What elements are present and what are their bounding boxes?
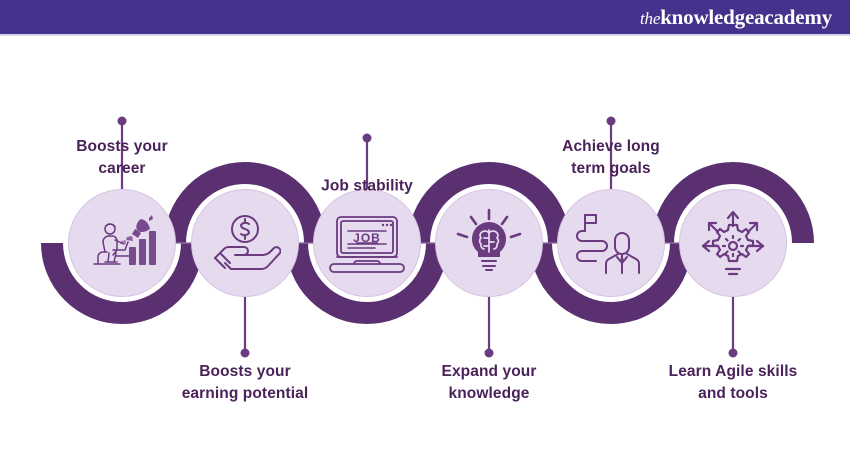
- connector-dot-6: [729, 349, 738, 358]
- gear-arrows-outward-icon: [697, 208, 769, 278]
- icon-bubble-5[interactable]: [557, 189, 665, 297]
- person-rocket-chart-icon: [85, 212, 159, 274]
- infographic-stage: Boosts your career: [0, 36, 850, 450]
- step-label-achieve-long-term-goals: Achieve long term goals: [501, 136, 721, 181]
- icon-bubble-2[interactable]: [191, 189, 299, 297]
- label-line-2: and tools: [623, 383, 843, 405]
- person-maze-flag-goal-icon: [576, 211, 646, 275]
- laptop-job-screen-icon: JOB: [328, 213, 406, 273]
- header-bar: theknowledgeacademy: [0, 0, 850, 34]
- connector-dot-2: [241, 349, 250, 358]
- icon-bubble-6[interactable]: [679, 189, 787, 297]
- label-line-1: Expand your: [379, 361, 599, 383]
- label-line-1: Boosts your: [12, 136, 232, 158]
- label-line-1: Learn Agile skills: [623, 361, 843, 383]
- connector-dot-3: [363, 134, 372, 143]
- connector-dot-1: [118, 117, 127, 126]
- step-label-job-stability: Job stability: [257, 176, 477, 198]
- step-label-boosts-your-career: Boosts your career: [12, 136, 232, 181]
- brand-logo: theknowledgeacademy: [640, 7, 832, 28]
- hand-holding-dollar-coin-icon: [209, 212, 281, 274]
- label-line-2: term goals: [501, 159, 721, 181]
- label-line-2: knowledge: [379, 383, 599, 405]
- label-line-1: Achieve long: [501, 136, 721, 158]
- step-label-learn-agile-skills-and-tools: Learn Agile skills and tools: [623, 361, 843, 406]
- step-label-boosts-your-earning-potential: Boosts your earning potential: [135, 361, 355, 406]
- icon-bubble-1[interactable]: [68, 189, 176, 297]
- icon-bubble-3[interactable]: JOB: [313, 189, 421, 297]
- brand-logo-the: the: [640, 9, 660, 28]
- connector-dot-5: [607, 117, 616, 126]
- label-line-2: career: [12, 159, 232, 181]
- step-label-expand-your-knowledge: Expand your knowledge: [379, 361, 599, 406]
- label-line-2: earning potential: [135, 383, 355, 405]
- label-line-1: Boosts your: [135, 361, 355, 383]
- brand-logo-main: knowledgeacademy: [660, 5, 832, 29]
- icon-bubble-4[interactable]: [435, 189, 543, 297]
- label-line-1: Job stability: [257, 176, 477, 198]
- lightbulb-brain-icon: [454, 208, 524, 278]
- connector-dot-4: [485, 349, 494, 358]
